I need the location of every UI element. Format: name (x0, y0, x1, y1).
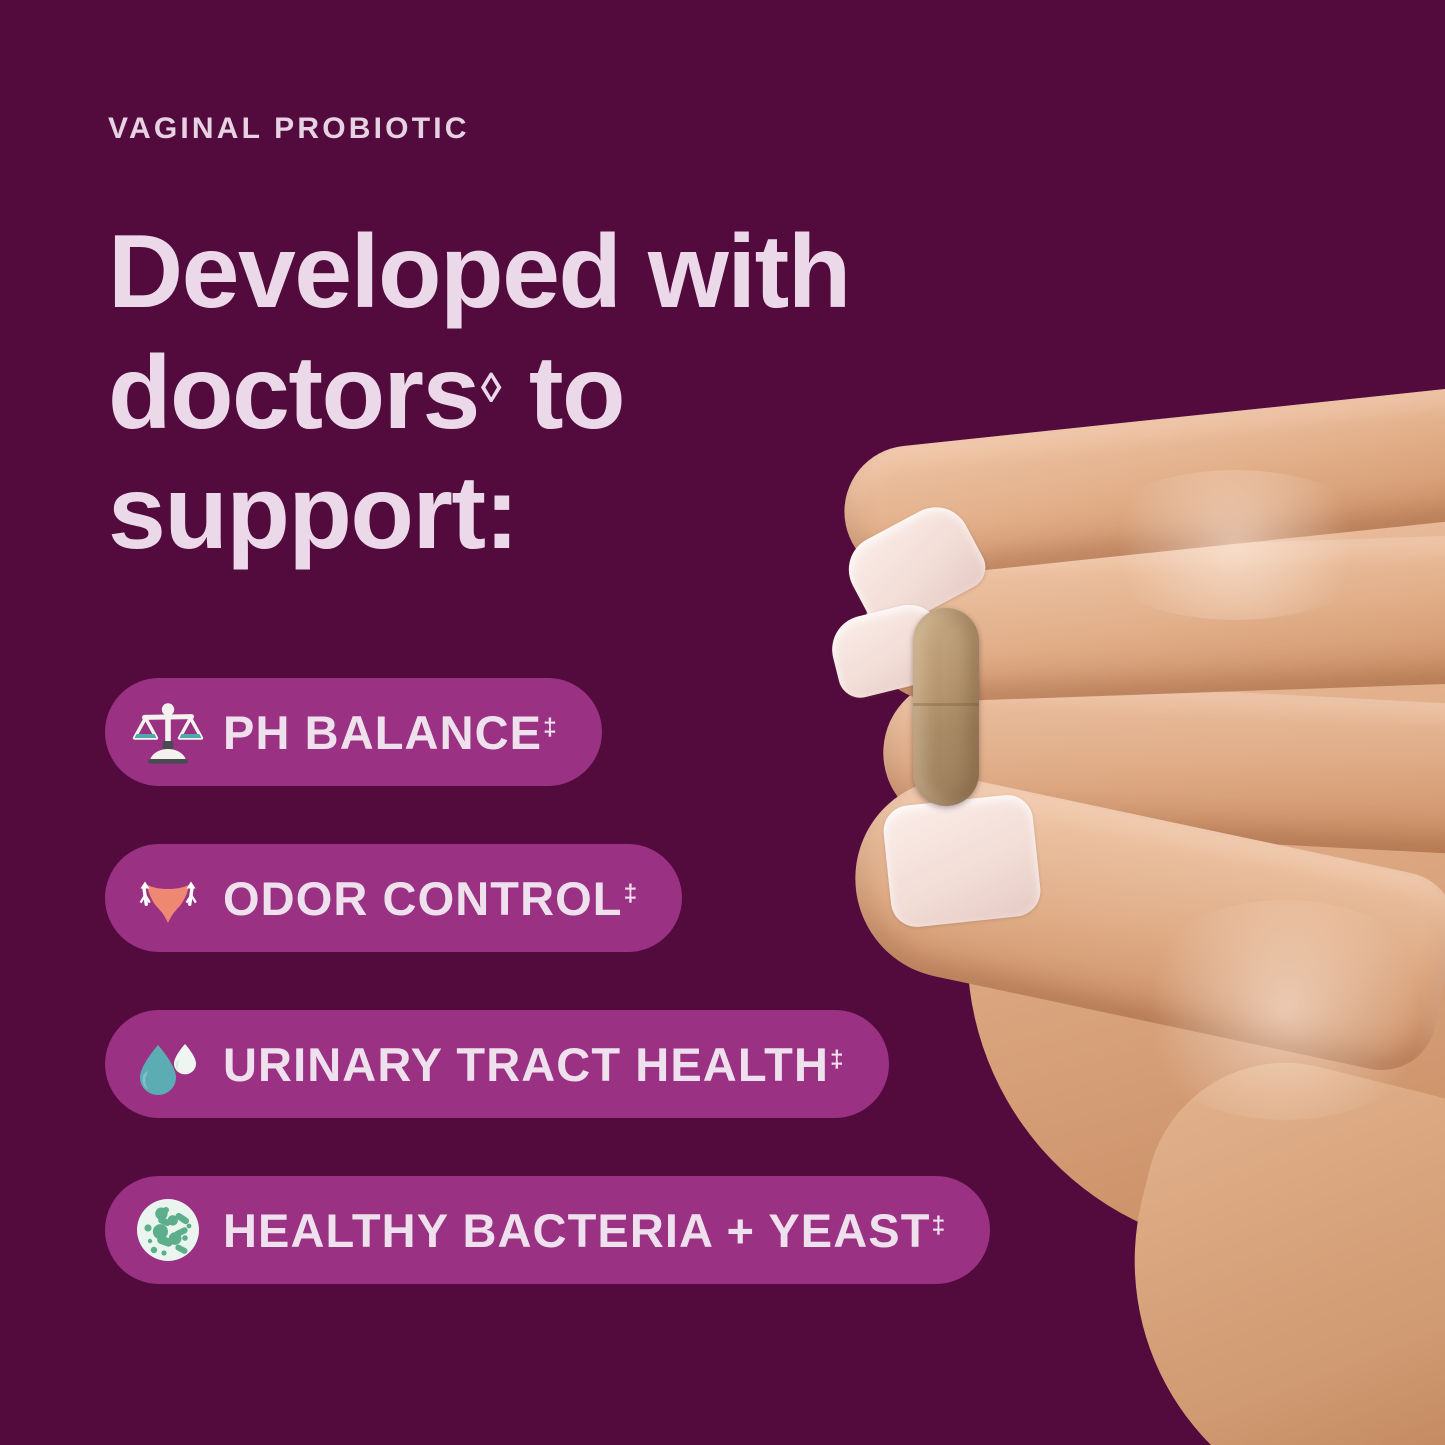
underwear-icon (129, 859, 207, 937)
eyebrow-label: VAGINAL PROBIOTIC (108, 112, 470, 146)
benefit-urinary-tract-health: URINARY TRACT HEALTH‡ (105, 1010, 889, 1118)
headline-line-3: support: (108, 453, 1088, 574)
benefit-ph-balance: pH BALANCE‡ (105, 678, 602, 786)
wrist (1080, 1033, 1445, 1445)
benefit-label: pH BALANCE‡ (223, 705, 558, 760)
skin-highlight-lower (1125, 900, 1445, 1120)
product-benefit-graphic: VAGINAL PROBIOTIC Developed with doctors… (0, 0, 1445, 1445)
benefit-healthy-bacteria-yeast: HEALTHY BACTERIA + YEAST‡ (105, 1176, 990, 1284)
dagger-footnote-icon: ‡ (543, 716, 558, 740)
dagger-footnote-icon: ‡ (830, 1048, 845, 1072)
bacteria-petri-dish-icon (129, 1191, 207, 1269)
page-title: Developed with doctors◊ to support: (108, 212, 1088, 574)
headline-line-2-text: doctors (108, 335, 479, 451)
benefit-list: pH BALANCE‡ (105, 678, 990, 1342)
dagger-footnote-icon: ‡ (624, 882, 639, 906)
benefit-label: URINARY TRACT HEALTH‡ (223, 1037, 845, 1092)
water-droplet-icon (129, 1025, 207, 1103)
headline-line-1: Developed with (108, 212, 1088, 333)
dagger-footnote-icon: ‡ (932, 1214, 947, 1238)
diamond-footnote-icon: ◊ (481, 367, 502, 409)
skin-highlight (1085, 470, 1385, 620)
benefit-label: HEALTHY BACTERIA + YEAST‡ (223, 1203, 946, 1258)
headline-line-2: doctors◊ to (108, 333, 1088, 454)
balance-scale-icon (129, 693, 207, 771)
benefit-label: ODOR CONTROL‡ (223, 871, 638, 926)
headline-line-2-tail: to (501, 335, 624, 451)
benefit-odor-control: ODOR CONTROL‡ (105, 844, 682, 952)
